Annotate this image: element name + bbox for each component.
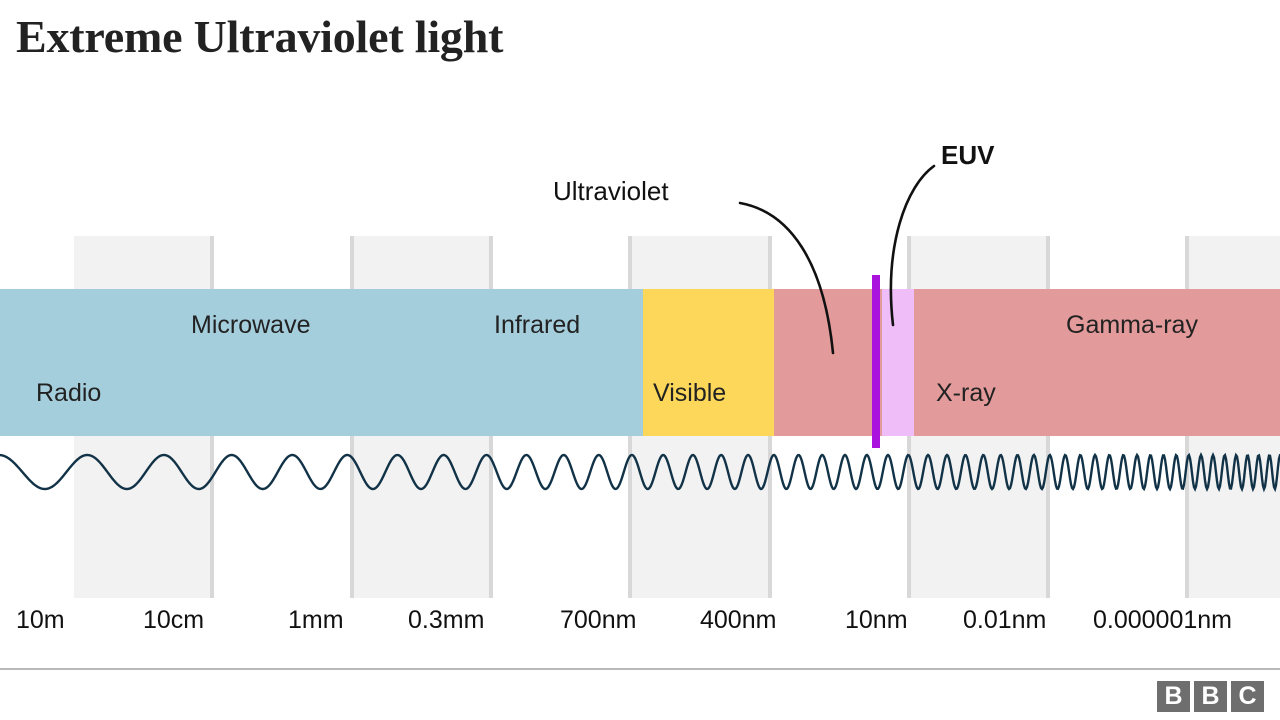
spectrum-band-xray <box>914 289 1050 436</box>
bbc-logo-letter: B <box>1157 681 1190 712</box>
spectrum-band-ultraviolet <box>774 289 882 436</box>
euv-marker-line <box>872 275 880 448</box>
band-label-microwave: Microwave <box>191 313 310 338</box>
band-label-gamma: Gamma-ray <box>1066 313 1198 338</box>
axis-tick-label: 0.01nm <box>963 608 1046 633</box>
axis-tick-label: 0.3mm <box>408 608 484 633</box>
band-label-xray: X-ray <box>936 381 996 406</box>
axis-tick-label: 10m <box>16 608 65 633</box>
axis-tick-label: 400nm <box>700 608 776 633</box>
axis-tick-label: 700nm <box>560 608 636 633</box>
band-label-radio: Radio <box>36 381 101 406</box>
band-label-infrared: Infrared <box>494 313 580 338</box>
infographic-root: Extreme Ultraviolet light RadioMicrowave… <box>0 0 1280 720</box>
spectrum-band-radio <box>0 289 180 436</box>
spectrum-chart: RadioMicrowaveInfraredVisibleX-rayGamma-… <box>0 236 1280 598</box>
footer-divider <box>0 668 1280 670</box>
wavelength-axis: 10m10cm1mm0.3mm700nm400nm10nm0.01nm0.000… <box>0 608 1280 642</box>
axis-tick-label: 0.000001nm <box>1093 608 1232 633</box>
bbc-logo: B B C <box>1157 681 1264 712</box>
axis-tick-label: 10nm <box>845 608 908 633</box>
axis-tick-label: 1mm <box>288 608 344 633</box>
spectrum-band-euv <box>882 289 914 436</box>
page-title: Extreme Ultraviolet light <box>16 10 503 63</box>
axis-tick-label: 10cm <box>143 608 204 633</box>
bbc-logo-letter: C <box>1231 681 1264 712</box>
waveform-illustration <box>0 440 1280 504</box>
spectrum-band-visible <box>643 289 774 436</box>
annotation-label-euv: EUV <box>941 142 994 168</box>
annotation-label-ultraviolet: Ultraviolet <box>553 178 669 204</box>
bbc-logo-letter: B <box>1194 681 1227 712</box>
band-label-visible: Visible <box>653 381 726 406</box>
